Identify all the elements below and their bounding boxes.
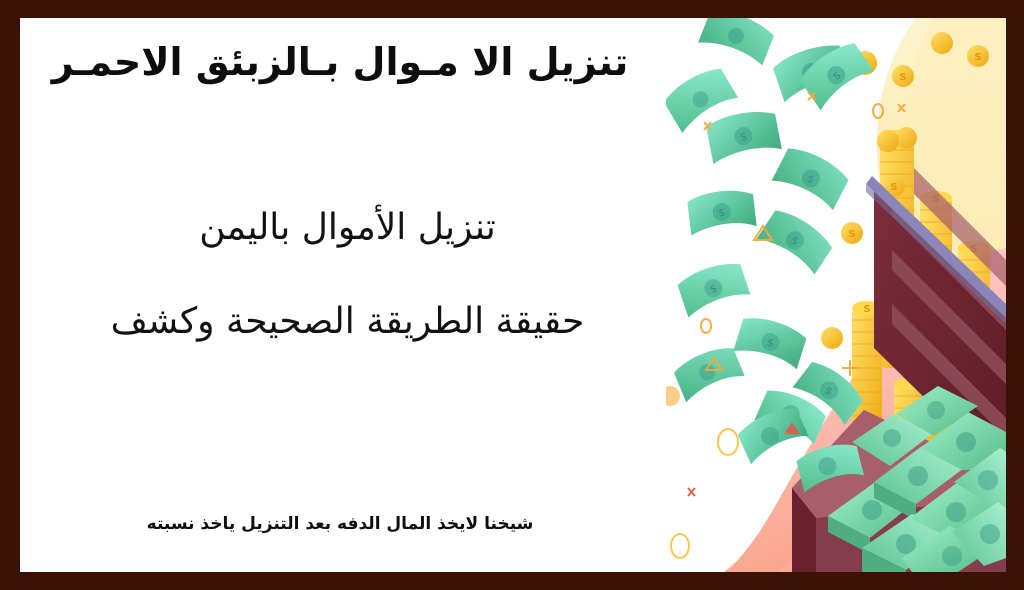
body-line-2: حقيقة الطريقة الصحيحة وكشف: [20, 302, 675, 342]
treasure-chest-money-illustration: S S: [666, 18, 1006, 572]
svg-text:S: S: [890, 182, 897, 193]
svg-text:S: S: [863, 304, 870, 315]
svg-text:S: S: [974, 52, 981, 63]
page-title: تنزيل الا مـوال بـالزبئق الاحمـر: [20, 40, 660, 84]
svg-text:S: S: [848, 229, 855, 240]
falling-dollar-bills: S S S: [666, 18, 875, 494]
body-text-block: تنزيل الأموال باليمن حقيقة الطريقة الصحي…: [20, 208, 675, 341]
svg-text:S: S: [899, 72, 906, 83]
footer-caption: شيخنا لايخذ المال الدفه بعد التنزيل ياخذ…: [20, 514, 660, 534]
slide-frame: S S: [0, 0, 1024, 590]
slide-canvas: S S: [20, 18, 1006, 572]
body-line-1: تنزيل الأموال باليمن: [20, 208, 675, 248]
